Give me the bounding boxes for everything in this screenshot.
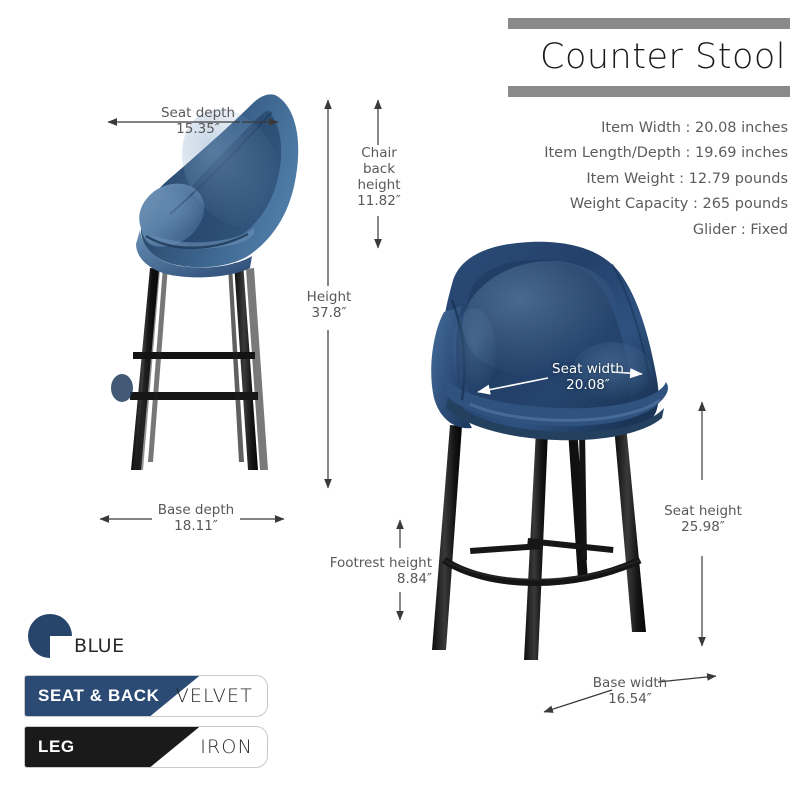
spec-label: Item Weight: [586, 171, 674, 187]
dim-value-text: 25.98″: [660, 520, 746, 536]
spec-row: Glider : Fixed: [508, 217, 790, 243]
dim-value-text: 8.84″: [316, 572, 432, 588]
spec-separator: :: [741, 222, 746, 238]
spec-label: Glider: [693, 222, 736, 238]
dim-label-text: Base depth: [158, 502, 234, 518]
spec-value: 20.08: [695, 120, 737, 136]
spec-unit: pounds: [735, 196, 788, 212]
dim-label-text: Height: [296, 290, 362, 306]
dim-label-line-1: Chair: [348, 146, 410, 162]
chair-front-view: [431, 242, 668, 660]
material-name-label: IRON: [200, 727, 253, 767]
dim-label-text: Seat depth: [161, 105, 235, 121]
dim-label-chair-back-height: Chair back height 11.82″: [348, 146, 410, 210]
dim-label-footrest-height: Footrest height 8.84″: [316, 556, 432, 588]
material-part-label: SEAT & BACK: [38, 676, 160, 716]
spec-row: Weight Capacity : 265 pounds: [508, 192, 790, 218]
legend-panel: BLUE SEAT & BACK VELVET LEG IRON: [24, 612, 276, 768]
spec-separator: :: [686, 145, 691, 161]
dim-label-line-2: back: [348, 162, 410, 178]
dim-value-text: 20.08″: [540, 378, 636, 394]
spec-value: 19.69: [695, 145, 737, 161]
dim-label-text: Footrest height: [316, 556, 432, 572]
chair-side-view: [111, 92, 302, 470]
title-rule-bottom: [508, 86, 790, 97]
dim-label-seat-height: Seat height 25.98″: [660, 504, 746, 536]
spec-unit: pounds: [735, 171, 788, 187]
spec-row: Item Length/Depth : 19.69 inches: [508, 141, 790, 167]
material-part-label: LEG: [38, 727, 75, 767]
spec-label: Weight Capacity: [570, 196, 689, 212]
spec-separator: :: [679, 171, 684, 187]
spec-row: Item Weight : 12.79 pounds: [508, 166, 790, 192]
spec-unit: inches: [741, 145, 788, 161]
dim-label-text: Seat width: [552, 361, 624, 377]
dim-label-base-width: Base width 16.54″: [578, 676, 682, 708]
spec-row: Item Width : 20.08 inches: [508, 115, 790, 141]
color-swatch-notch: [50, 636, 74, 660]
dim-label-seat-width: Seat width 20.08″: [540, 362, 636, 394]
dim-value-text: 15.35″: [148, 122, 248, 138]
dim-value-text: 37.8″: [296, 306, 362, 322]
spec-list: Item Width : 20.08 inches Item Length/De…: [508, 115, 790, 243]
dim-label-base-depth: Base depth 18.11″: [144, 503, 248, 535]
color-swatch-row: BLUE: [24, 612, 276, 666]
spec-value: 265: [702, 196, 730, 212]
material-tag-seat-back: SEAT & BACK VELVET: [24, 675, 268, 717]
page-title: Counter Stool: [508, 29, 790, 86]
chair-front-legs: [432, 414, 646, 660]
dim-value-text: 11.82″: [348, 194, 410, 210]
spec-panel: Counter Stool Item Width : 20.08 inches …: [508, 18, 790, 243]
dim-label-height: Height 37.8″: [296, 290, 362, 322]
spec-separator: :: [693, 196, 698, 212]
spec-sheet-canvas: Counter Stool Item Width : 20.08 inches …: [0, 0, 800, 800]
dim-value-text: 16.54″: [578, 692, 682, 708]
dim-label-text: Seat height: [660, 504, 746, 520]
dim-value-text: 18.11″: [144, 519, 248, 535]
color-name-label: BLUE: [74, 635, 125, 657]
spec-label: Item Width: [601, 120, 681, 136]
spec-value: Fixed: [750, 222, 788, 238]
material-tag-leg: LEG IRON: [24, 726, 268, 768]
dim-label-line-3: height: [348, 178, 410, 194]
title-rule-top: [508, 18, 790, 29]
spec-value: 12.79: [689, 171, 731, 187]
material-name-label: VELVET: [176, 676, 253, 716]
chair-side-legs: [111, 262, 268, 470]
spec-label: Item Length/Depth: [544, 145, 681, 161]
dim-label-seat-depth: Seat depth 15.35″: [148, 106, 248, 138]
spec-unit: inches: [741, 120, 788, 136]
dim-label-text: Base width: [578, 676, 682, 692]
spec-separator: :: [686, 120, 691, 136]
